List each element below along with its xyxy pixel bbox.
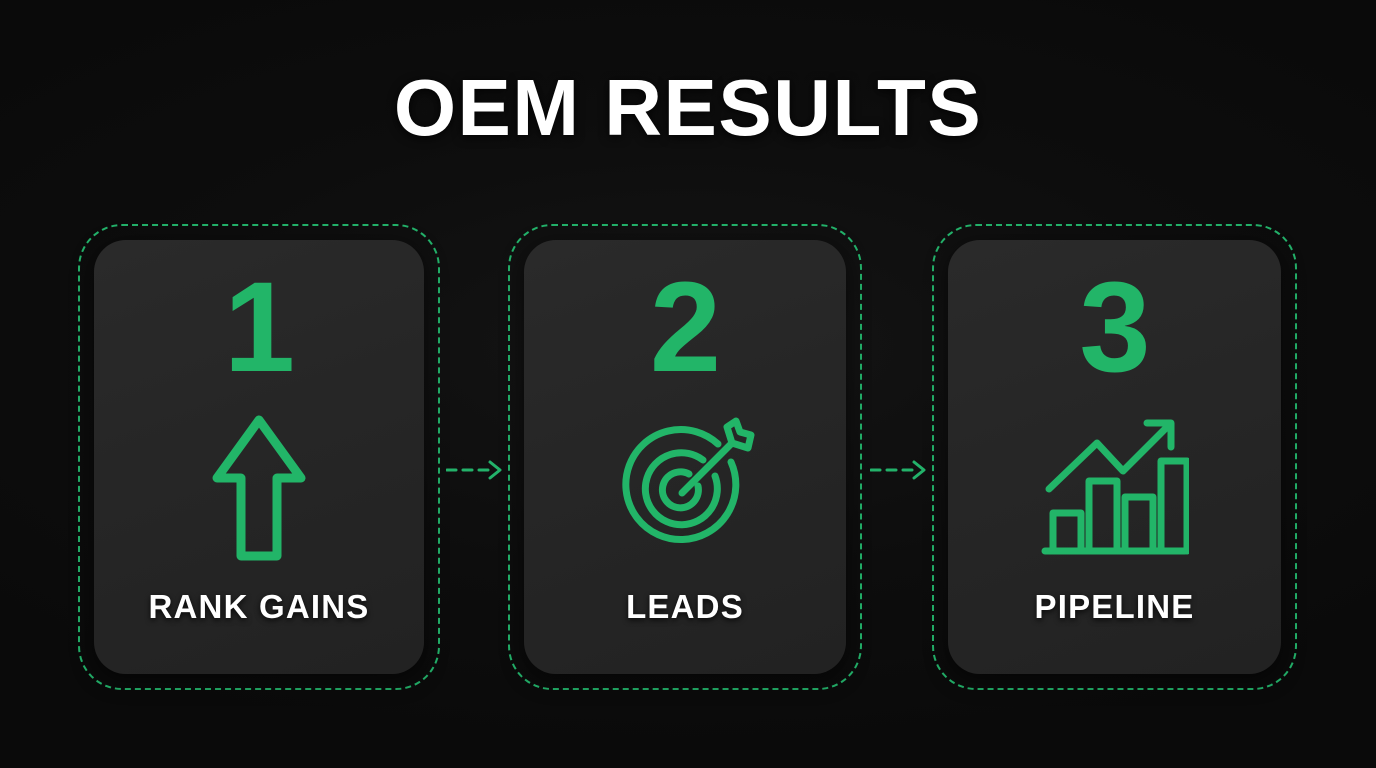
card-step-number: 2: [650, 264, 720, 392]
card-rank-gains[interactable]: 1 RANK GAINS: [94, 240, 424, 674]
card-pipeline[interactable]: 3 PIPEL: [948, 240, 1281, 674]
card-1-dashed-frame: 1 RANK GAINS: [78, 224, 440, 690]
card-label: PIPELINE: [1035, 588, 1195, 626]
up-arrow-icon: [94, 392, 424, 588]
infographic-canvas: OEM RESULTS 1 RANK GAINS 2: [0, 0, 1376, 768]
card-step-number: 3: [1079, 264, 1149, 392]
card-label: RANK GAINS: [148, 588, 369, 626]
card-row: 1 RANK GAINS 2: [78, 224, 1297, 690]
target-bullseye-arrow-icon: [524, 392, 846, 588]
connector-arrow-1-2: [446, 458, 516, 482]
connector-arrow-2-3: [870, 458, 940, 482]
card-label: LEADS: [626, 588, 744, 626]
card-leads[interactable]: 2 LEADS: [524, 240, 846, 674]
page-title: OEM RESULTS: [0, 68, 1376, 148]
card-2-dashed-frame: 2 LEADS: [508, 224, 862, 690]
bar-chart-growth-icon: [948, 392, 1281, 588]
card-step-number: 1: [224, 264, 294, 392]
card-3-dashed-frame: 3 PIPEL: [932, 224, 1297, 690]
